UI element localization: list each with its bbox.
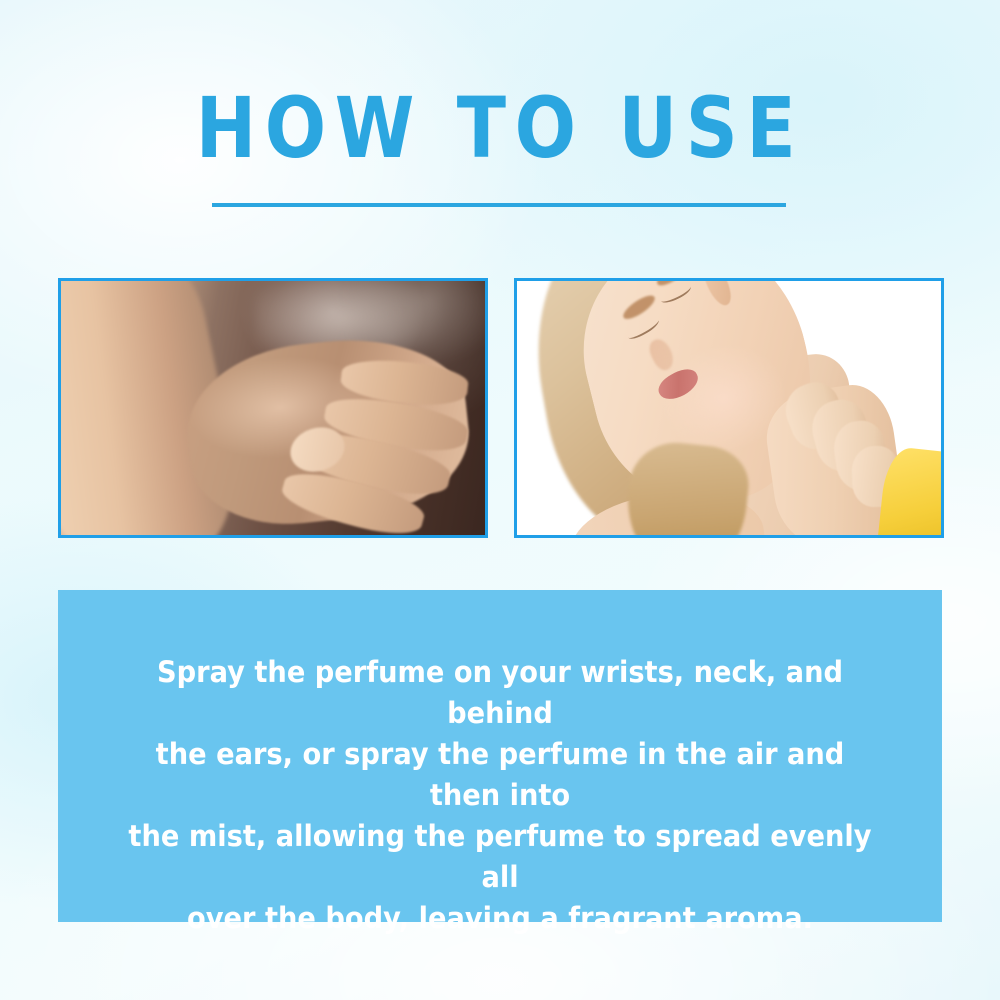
closed-eye-shape — [659, 282, 694, 307]
ear-shape — [698, 281, 735, 309]
instructions-line: over the body, leaving a fragrant aroma. — [124, 898, 876, 939]
instructions-panel: Spray the perfume on your wrists, neck, … — [58, 590, 942, 922]
instructions-line: the ears, or spray the perfume in the ai… — [124, 734, 876, 816]
title-underline-rule — [212, 203, 786, 207]
title-block: HOW TO USE — [0, 86, 1000, 170]
woman-applying-perfume-to-neck-photo — [514, 278, 944, 538]
perfume-spray-on-wrist-photo — [58, 278, 488, 538]
instructions-line: the mist, allowing the perfume to spread… — [124, 816, 876, 898]
how-to-use-infographic: HOW TO USE — [0, 0, 1000, 1000]
photo-left-content — [61, 281, 485, 535]
page-title: HOW TO USE — [70, 86, 930, 170]
photo-right-content — [517, 281, 941, 535]
instructions-text: Spray the perfume on your wrists, neck, … — [124, 652, 876, 939]
lips-shape — [654, 364, 702, 405]
instructions-line: Spray the perfume on your wrists, neck, … — [124, 652, 876, 734]
nose-shape — [646, 336, 678, 373]
